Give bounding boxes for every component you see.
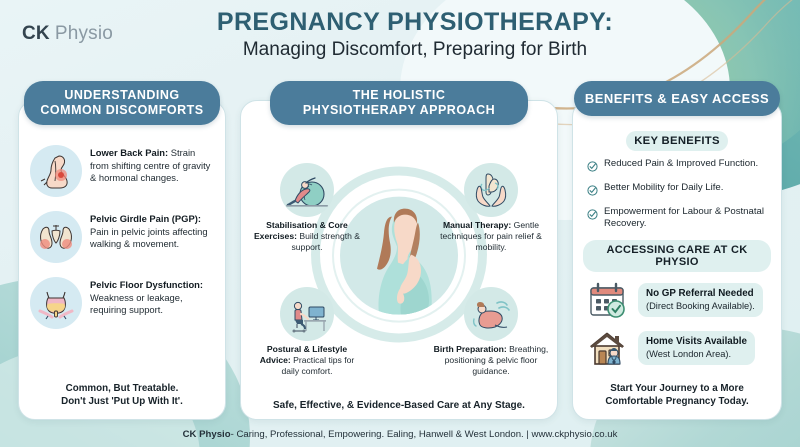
column-understanding-discomforts: UNDERSTANDING COMMON DISCOMFORTS Lower B… xyxy=(18,100,226,420)
list-item: Pelvic Girdle Pain (PGP): Pain in pelvic… xyxy=(19,203,225,269)
node-manual-therapy: Manual Therapy: Gentle techniques for pa… xyxy=(431,163,551,254)
logo-ck-text: CK xyxy=(22,23,50,45)
middle-column-footnote: Safe, Effective, & Evidence-Based Care a… xyxy=(241,400,557,411)
list-item: No GP Referral Needed (Direct Booking Av… xyxy=(585,279,771,321)
bladder-icon xyxy=(30,277,82,329)
access-text: Home Visits Available (West London Area)… xyxy=(638,331,755,366)
page-title: PREGNANCY PHYSIOTHERAPY: xyxy=(180,8,650,36)
access-text: No GP Referral Needed (Direct Booking Av… xyxy=(638,283,763,318)
list-item-title: Pelvic Floor Dysfunction: xyxy=(90,279,203,290)
page-subtitle: Managing Discomfort, Preparing for Birth xyxy=(180,39,650,61)
node-body: Build strength & support. xyxy=(291,231,360,252)
node-label: Stabilisation & Core Exercises: Build st… xyxy=(247,220,367,254)
list-item-text: Pelvic Floor Dysfunction: Weakness or le… xyxy=(90,275,215,317)
right-column-footnote: Start Your Journey to a More Comfortable… xyxy=(573,382,781,408)
node-body: Practical tips for daily comfort. xyxy=(281,355,354,376)
logo-physio-text: Physio xyxy=(55,23,113,45)
node-postural-lifestyle-advice: Postural & Lifestyle Advice: Practical t… xyxy=(247,287,367,378)
list-item-text: Pelvic Girdle Pain (PGP): Pain in pelvic… xyxy=(90,209,215,251)
pelvis-icon xyxy=(30,211,82,263)
discomfort-list: Lower Back Pain: Strain from shifting ce… xyxy=(19,137,225,335)
list-item: Home Visits Available (West London Area)… xyxy=(585,327,771,369)
infographic-canvas: CK Physio PREGNANCY PHYSIOTHERAPY: Manag… xyxy=(0,0,800,447)
accessing-care-heading: ACCESSING CARE AT CK PHYSIO xyxy=(583,240,771,272)
list-item: Lower Back Pain: Strain from shifting ce… xyxy=(19,137,225,203)
node-label: Postural & Lifestyle Advice: Practical t… xyxy=(247,344,367,378)
column-holistic-approach: THE HOLISTIC PHYSIOTHERAPY APPROACH xyxy=(240,100,558,420)
list-item-body: Pain in pelvic joints affecting walking … xyxy=(90,226,208,250)
access-title: No GP Referral Needed xyxy=(646,288,755,301)
footer-text: - Caring, Professional, Empowering. Eali… xyxy=(231,429,618,440)
node-label: Birth Preparation: Breathing, positionin… xyxy=(431,344,551,378)
access-body: (Direct Booking Available). xyxy=(646,301,755,311)
benefit-text: Empowerment for Labour & Postnatal Recov… xyxy=(604,206,771,231)
right-column-header-pill: BENEFITS & EASY ACCESS xyxy=(574,81,780,116)
node-label: Manual Therapy: Gentle techniques for pa… xyxy=(431,220,551,254)
footer-brand: CK Physio xyxy=(183,429,231,440)
title-block: PREGNANCY PHYSIOTHERAPY: Managing Discom… xyxy=(180,8,650,61)
footer: CK Physio - Caring, Professional, Empowe… xyxy=(0,421,800,447)
footer-brand-text: CK Physio xyxy=(183,429,231,440)
list-item-title: Lower Back Pain: xyxy=(90,147,168,158)
node-stabilisation-core-exercises: Stabilisation & Core Exercises: Build st… xyxy=(247,163,367,254)
column-benefits-access: BENEFITS & EASY ACCESS KEY BENEFITS Redu… xyxy=(572,100,782,420)
list-item-body: Weakness or leakage, requiring support. xyxy=(90,292,183,316)
access-title: Home Visits Available xyxy=(646,336,747,349)
exercise-ball-icon xyxy=(280,163,334,217)
calendar-check-icon xyxy=(585,279,631,321)
access-body: (West London Area). xyxy=(646,349,731,359)
list-item: Reduced Pain & Improved Function. xyxy=(587,158,771,177)
middle-column-header-pill: THE HOLISTIC PHYSIOTHERAPY APPROACH xyxy=(270,81,528,125)
benefit-text: Better Mobility for Daily Life. xyxy=(604,182,723,194)
left-column-header-pill: UNDERSTANDING COMMON DISCOMFORTS xyxy=(24,81,220,125)
home-visit-icon xyxy=(585,327,631,369)
key-benefits-heading: KEY BENEFITS xyxy=(626,131,728,151)
node-title: Birth Preparation: xyxy=(434,344,507,354)
brand-logo: CK Physio xyxy=(22,23,113,45)
hands-joint-icon xyxy=(464,163,518,217)
check-circle-icon xyxy=(587,183,598,201)
list-item: Pelvic Floor Dysfunction: Weakness or le… xyxy=(19,269,225,335)
desk-posture-icon xyxy=(280,287,334,341)
node-birth-preparation: Birth Preparation: Breathing, positionin… xyxy=(431,287,551,378)
benefit-text: Reduced Pain & Improved Function. xyxy=(604,158,758,170)
breathing-birth-icon xyxy=(464,287,518,341)
left-column-footnote: Common, But Treatable. Don't Just 'Put U… xyxy=(19,382,225,408)
lower-back-pain-icon xyxy=(30,145,82,197)
check-circle-icon xyxy=(587,207,598,225)
list-item-title: Pelvic Girdle Pain (PGP): xyxy=(90,213,201,224)
header: CK Physio PREGNANCY PHYSIOTHERAPY: Manag… xyxy=(0,0,800,72)
list-item-text: Lower Back Pain: Strain from shifting ce… xyxy=(90,143,215,185)
right-column-content: KEY BENEFITS Reduced Pain & Improved Fun… xyxy=(573,131,781,375)
holistic-diagram: Stabilisation & Core Exercises: Build st… xyxy=(247,127,551,389)
list-item: Better Mobility for Daily Life. xyxy=(587,182,771,201)
check-circle-icon xyxy=(587,159,598,177)
node-title: Manual Therapy: xyxy=(443,220,511,230)
list-item: Empowerment for Labour & Postnatal Recov… xyxy=(587,206,771,231)
